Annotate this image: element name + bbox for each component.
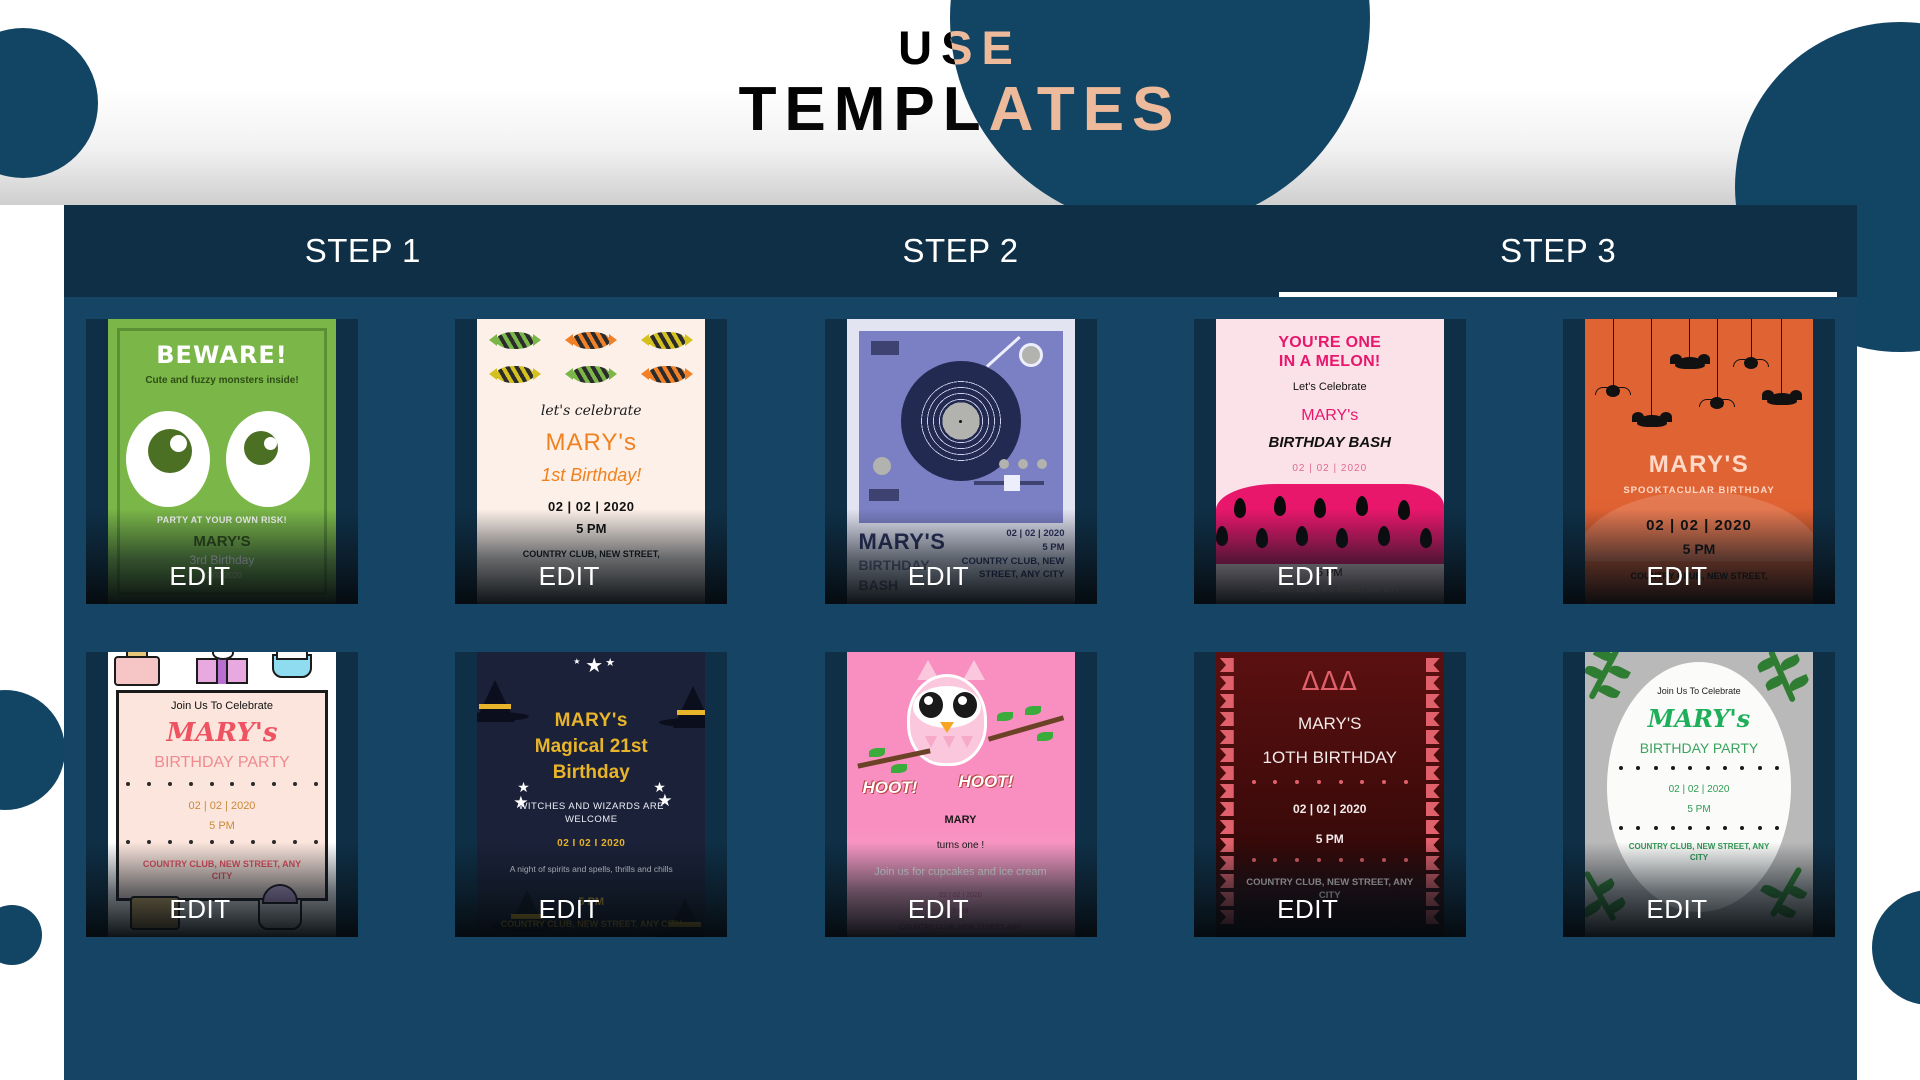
card-name: MARY'S	[1216, 714, 1444, 734]
spider-icon	[1710, 397, 1724, 409]
divider-dots	[1252, 858, 1408, 862]
star-icon: ★	[605, 658, 615, 669]
card-title-line2: IN A MELON!	[1224, 352, 1436, 371]
card-line: SPOOKTACULAR BIRTHDAY	[1585, 485, 1813, 496]
turntable-dots	[999, 459, 1047, 469]
gift-icon	[196, 658, 248, 684]
spider-icon	[1606, 385, 1620, 397]
card-name: MARY'S	[1585, 451, 1813, 479]
decor-circle-bottom-left	[0, 905, 42, 965]
watermelon-flesh-icon	[1216, 484, 1444, 564]
edit-button[interactable]: EDIT	[86, 561, 336, 592]
monster-pupil-left-icon	[148, 429, 192, 473]
card-night-text: A night of spirits and spells, thrills a…	[493, 864, 689, 876]
card-time: 5 PM	[1216, 832, 1444, 846]
card-address: COUNTRY CLUB, NEW STREET, ANY CITY	[1621, 842, 1777, 864]
card-celebrate: Let's Celebrate	[1216, 381, 1444, 393]
card-name: MARY	[847, 814, 1075, 826]
card-line2: Magical 21st	[477, 736, 705, 758]
edit-button[interactable]: EDIT	[86, 894, 336, 925]
owl-eye-left-icon	[919, 692, 943, 718]
candy-icon	[572, 332, 610, 349]
card-date: 02 | 02 | 2020	[477, 499, 705, 514]
card-name: MARY's	[477, 429, 705, 457]
card-address: COUNTRY CLUB, NEW STREET,	[487, 549, 695, 561]
edit-button[interactable]: EDIT	[1563, 894, 1813, 925]
templates-panel: STEP 1 STEP 2 STEP 3 BEWARE! Cute and fu…	[64, 205, 1857, 1080]
card-line: BIRTHDAY BASH	[1216, 434, 1444, 451]
template-card-candy-stripes[interactable]: let's celebrate MARY's 1st Birthday! 02 …	[455, 319, 727, 604]
turntable-slider	[974, 481, 1044, 485]
hoot-text-2: HOOT!	[959, 772, 1014, 792]
divider-dots	[126, 840, 318, 844]
candy-icon	[496, 366, 534, 383]
decor-circle-mid-right	[1872, 890, 1920, 1005]
card-date: 02 | 02 | 2020	[1585, 517, 1813, 534]
template-row-1: BEWARE! Cute and fuzzy monsters inside! …	[86, 319, 1835, 604]
edit-button[interactable]: EDIT	[825, 561, 1075, 592]
divider-dots	[1619, 766, 1779, 770]
template-card-beware-monsters[interactable]: BEWARE! Cute and fuzzy monsters inside! …	[86, 319, 358, 604]
bat-icon	[1675, 357, 1705, 369]
candy-icon	[496, 332, 534, 349]
card-title: BEWARE!	[108, 341, 336, 369]
card-date: 02 | 02 | 2020	[1216, 463, 1444, 474]
edit-button[interactable]: EDIT	[1194, 561, 1444, 592]
card-line3: Birthday	[477, 762, 705, 784]
candy-row-2	[477, 361, 705, 387]
monster-glint-right-icon	[264, 437, 277, 450]
edit-button[interactable]: EDIT	[1194, 894, 1444, 925]
card-risk-text: PARTY AT YOUR OWN RISK!	[108, 515, 336, 525]
owl-eye-right-icon	[953, 692, 977, 718]
card-time: 5 PM	[1585, 541, 1813, 557]
card-date: 02 I 02 I 2020	[477, 838, 705, 849]
candy-row-1	[477, 327, 705, 353]
divider-dots	[1252, 780, 1408, 784]
tab-step-3[interactable]: STEP 3	[1259, 205, 1857, 297]
divider-dots	[126, 782, 318, 786]
card-turns: turns one !	[847, 840, 1075, 851]
card-title: YOU'RE ONE IN A MELON!	[1224, 333, 1436, 371]
template-card-owl-hoot[interactable]: HOOT! HOOT! MARY turns one ! Join us for…	[825, 652, 1097, 937]
template-card-spooktacular-bats[interactable]: MARY'S SPOOKTACULAR BIRTHDAY 02 | 02 | 2…	[1563, 319, 1835, 604]
card-subtitle: Cute and fuzzy monsters inside!	[128, 374, 316, 388]
card-title-line1: YOU'RE ONE	[1224, 333, 1436, 352]
card-name: MARY's	[108, 718, 336, 748]
star-icon: ★	[585, 656, 603, 676]
tonearm-icon	[985, 336, 1020, 368]
spider-icon	[1744, 357, 1758, 369]
template-card-magical-21st[interactable]: ★ ★ ★ ★ ★ ★ ★ MARY's Magical 21st Birthd…	[455, 652, 727, 937]
template-card-red-ribbon-10th[interactable]: ᐃᐃᐃ MARY'S 1OTH BIRTHDAY 02 | 02 | 2020 …	[1194, 652, 1466, 937]
turntable-rect-top	[871, 341, 899, 355]
turntable-icon	[859, 331, 1063, 523]
card-date: 02 | 02 | 2020	[108, 800, 336, 812]
divider-dots	[1619, 826, 1779, 830]
candy-icon	[648, 332, 686, 349]
edit-button[interactable]: EDIT	[455, 894, 705, 925]
edit-button[interactable]: EDIT	[455, 561, 705, 592]
monster-glint-left-icon	[170, 435, 187, 452]
card-date: 02 | 02 | 2020	[1216, 802, 1444, 816]
card-address: COUNTRY CLUB, NEW STREET, ANY	[847, 924, 1075, 931]
card-line: BIRTHDAY PARTY	[1585, 740, 1813, 756]
card-join: Join us for cupcakes and ice cream	[847, 866, 1075, 878]
card-time: 5 PM	[108, 820, 336, 832]
card-welcome: WITCHES AND WIZARDS ARE WELCOME	[497, 800, 685, 827]
card-join: Join Us To Celebrate	[1585, 686, 1813, 696]
card-date: 02 | 02 | 2020	[1585, 784, 1813, 795]
turntable-knob	[873, 457, 891, 475]
tonearm-head-icon	[1019, 343, 1043, 367]
template-grid: BEWARE! Cute and fuzzy monsters inside! …	[64, 297, 1857, 1080]
card-date: 02 | 02 | 2020	[945, 527, 1065, 541]
card-join: Join Us To Celebrate	[108, 700, 336, 712]
step-tabbar: STEP 1 STEP 2 STEP 3	[64, 205, 1857, 297]
card-name: MARY's	[1585, 704, 1813, 733]
bat-icon	[1767, 393, 1797, 405]
template-row-2: Join Us To Celebrate MARY's BIRTHDAY PAR…	[86, 652, 1835, 937]
card-name: MARY'S	[859, 529, 946, 555]
card-line: 1st Birthday!	[477, 465, 705, 486]
tab-step-1[interactable]: STEP 1	[64, 205, 662, 297]
tab-step-2[interactable]: STEP 2	[662, 205, 1260, 297]
template-card-greenery-oval[interactable]: Join Us To Celebrate MARY's BIRTHDAY PAR…	[1563, 652, 1835, 937]
template-card-one-in-a-melon[interactable]: YOU'RE ONE IN A MELON! Let's Celebrate M…	[1194, 319, 1466, 604]
card-name: MARY's	[1216, 407, 1444, 425]
card-celebrate: let's celebrate	[477, 403, 705, 419]
card-time: 5 PM	[945, 541, 1065, 555]
card-line: 1OTH BIRTHDAY	[1216, 748, 1444, 768]
champagne-glasses-icon: ᐃᐃᐃ	[1216, 666, 1444, 697]
edit-button[interactable]: EDIT	[825, 894, 1075, 925]
owl-beak-icon	[940, 722, 954, 733]
star-icon: ★	[573, 658, 580, 666]
edit-button[interactable]: EDIT	[1563, 561, 1813, 592]
candy-icon	[648, 366, 686, 383]
card-time: 5 PM	[1585, 804, 1813, 815]
card-name: MARY'S	[108, 533, 336, 550]
card-name: MARY's	[477, 710, 705, 732]
template-card-turntable-bash[interactable]: MARY'S BIRTHDAY BASH 02 | 02 | 2020 5 PM…	[825, 319, 1097, 604]
decor-circle-mid-left	[0, 690, 65, 810]
template-card-cupcakes-party[interactable]: Join Us To Celebrate MARY's BIRTHDAY PAR…	[86, 652, 358, 937]
turntable-rect-bottom	[869, 489, 899, 501]
candy-icon	[572, 366, 610, 383]
card-time: 5 PM	[477, 521, 705, 536]
hoot-text-1: HOOT!	[863, 778, 918, 798]
card-line: BIRTHDAY PARTY	[108, 754, 336, 772]
bat-icon	[1637, 415, 1667, 427]
card-address: COUNTRY CLUB, NEW STREET, ANY CITY	[138, 858, 306, 882]
owl-feathers	[925, 736, 973, 748]
